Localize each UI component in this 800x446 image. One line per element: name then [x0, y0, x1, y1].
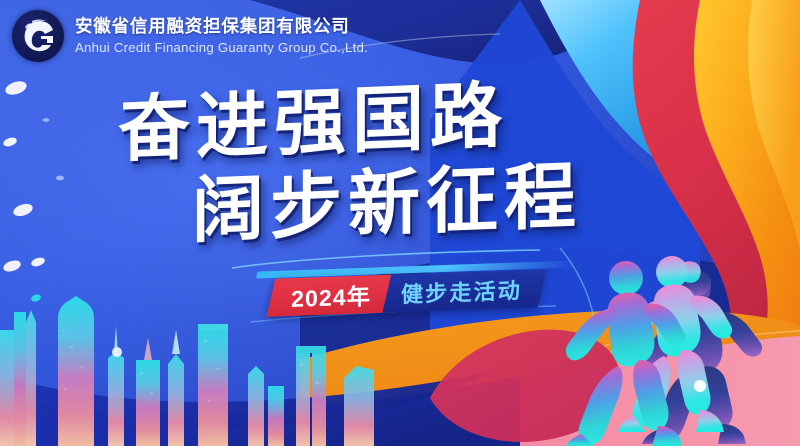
runner-middle [618, 256, 732, 432]
logo-g-mark [12, 10, 64, 62]
runner-back [642, 271, 762, 444]
headline-line-2: 阔步新征程 [192, 161, 582, 248]
brand-header: 安徽省信用融资担保集团有限公司 Anhui Credit Financing G… [12, 10, 368, 62]
company-name-cn: 安徽省信用融资担保集团有限公司 [75, 18, 368, 36]
ribbon-year-text: 2024年 [291, 277, 371, 313]
ribbon-event-text: 健步走活动 [401, 273, 522, 309]
headline-block: 奋进强国路 阔步新征程 [118, 86, 582, 240]
headline-line-1: 奋进强国路 [118, 77, 582, 167]
runner-front [566, 261, 686, 446]
company-name-en: Anhui Credit Financing Guaranty Group Co… [75, 41, 368, 54]
ribbon-event-block: 健步走活动 [383, 269, 547, 312]
promotional-banner: 安徽省信用融资担保集团有限公司 Anhui Credit Financing G… [0, 0, 800, 446]
company-name-block: 安徽省信用融资担保集团有限公司 Anhui Credit Financing G… [75, 18, 368, 54]
ribbon-year-block: 2024年 [267, 275, 392, 317]
knee-highlight [694, 380, 706, 392]
